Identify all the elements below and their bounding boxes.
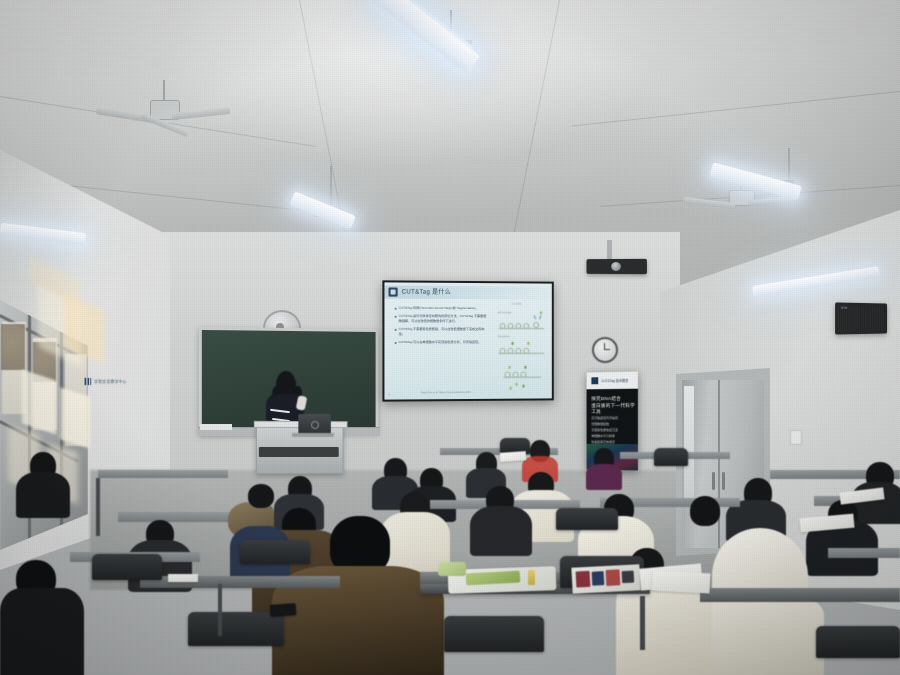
laptop-logo-icon — [311, 421, 319, 429]
banner-point: 高灵敏度低背景噪音 — [591, 416, 618, 420]
student-head — [690, 496, 720, 526]
chair — [816, 626, 900, 658]
banner-logo-text: CUT&Tag 技术服务 — [601, 377, 628, 382]
bullet-text: CUT&Tag 不需要染色质断裂，可以在较低细胞量下完成文库构建。 — [399, 327, 487, 336]
student-body — [470, 506, 532, 556]
student-white-body — [700, 596, 824, 675]
banner-logo-icon — [591, 377, 598, 384]
sunlight-patch — [22, 369, 56, 434]
list-item: CUT&Tag 是针对抗体定向靶向的原位方法，CUT&Tag 不需要细胞裂解，可… — [395, 314, 487, 323]
classroom-photo: 学院实验教学中心 BMB CUT&Tag 是什么 CUT&Tag 利用Chrom… — [0, 0, 900, 675]
lectern-panel — [259, 447, 339, 457]
list-item: CUT&Tag 不需要染色质断裂，可以在较低细胞量下完成文库构建。 — [395, 327, 487, 336]
presentation-slide: CUT&Tag 是什么 CUT&Tag 利用Chromatin-bound Ta… — [384, 282, 551, 399]
wall-clock — [592, 337, 618, 363]
door-split — [718, 380, 720, 548]
bullet-text: CUT&Tag 利用Chromatin-bound Target的 Tagmen… — [399, 306, 479, 311]
bullet-dot — [395, 316, 397, 318]
desk — [828, 548, 900, 558]
chair — [444, 616, 544, 652]
door-handle[interactable] — [712, 472, 715, 490]
bullet-dot — [395, 342, 397, 344]
door-handle[interactable] — [722, 472, 725, 490]
bullet-dot — [395, 308, 397, 310]
wall-sign-shadow — [91, 382, 146, 392]
phone[interactable] — [270, 603, 297, 617]
slide-title: CUT&Tag 是什么 — [402, 287, 451, 296]
list-item: CUT&Tag 利用Chromatin-bound Target的 Tagmen… — [395, 306, 487, 311]
chair — [654, 448, 688, 466]
door-glass — [684, 386, 694, 506]
bullet-text: CUT&Tag 是针对抗体定向靶向的原位方法，CUT&Tag 不需要细胞裂解，可… — [399, 314, 487, 323]
banner-headline-1: 探究DNA结合 — [591, 396, 621, 402]
chalk-tray-left — [200, 424, 232, 430]
ceiling-projector — [586, 259, 646, 274]
magazine[interactable] — [571, 564, 640, 594]
banner-point: 单细胞水平分辨率 — [591, 434, 615, 438]
laptop-base — [292, 433, 334, 437]
papers[interactable] — [168, 574, 198, 582]
green-item[interactable] — [438, 562, 466, 576]
desk — [98, 470, 228, 478]
slide-page-number: 5 — [389, 394, 390, 397]
student-body — [586, 464, 622, 490]
bullet-text: CUT&Tag 可以在单细胞水平实现染色质分析，背景噪音低。 — [399, 340, 482, 345]
list-item: CUT&Tag 可以在单细胞水平实现染色质分析，背景噪音低。 — [395, 340, 487, 345]
presentation-logo-icon — [389, 287, 398, 296]
banner-header: CUT&Tag 技术服务 — [587, 372, 638, 390]
projector-mount — [607, 240, 612, 260]
sunlight-patch — [60, 387, 90, 448]
chair — [92, 554, 162, 580]
student-body — [0, 588, 84, 675]
slide-diagram: CUT&Tag pA-Tn5 binding Tagmentation — [496, 303, 549, 393]
student-head — [248, 484, 274, 508]
student-body — [16, 472, 70, 518]
light-switch[interactable] — [790, 430, 802, 445]
projection-screen: CUT&Tag 是什么 CUT&Tag 利用Chromatin-bound Ta… — [382, 280, 553, 401]
chair — [556, 508, 618, 530]
banner-headline-2: 蛋白质的下一代科学工具 — [591, 403, 638, 415]
banner-point: 无需染色质免疫沉淀 — [591, 428, 618, 432]
diagram-label-bottom: Tagmentation — [498, 336, 510, 338]
desk — [700, 588, 900, 602]
bottle[interactable] — [528, 570, 535, 585]
wall-speaker: BMB — [835, 302, 887, 334]
slide-bullet-list: CUT&Tag 利用Chromatin-bound Target的 Tagmen… — [395, 306, 487, 349]
chair — [240, 540, 310, 564]
banner-point: 低细胞量起始 — [591, 422, 609, 426]
speaker-brand: BMB — [841, 306, 847, 310]
papers[interactable] — [500, 451, 527, 462]
bullet-dot — [395, 329, 397, 331]
slide-footer: Kaya-Okur et al. Nature Communications 2… — [421, 391, 471, 394]
diagram-label-top: CUT&Tag — [512, 303, 522, 305]
chair — [188, 612, 284, 646]
papers[interactable] — [652, 570, 711, 593]
laptop[interactable] — [298, 414, 331, 434]
diagram-label-mid: pA-Tn5 binding — [498, 312, 511, 314]
projector-lens — [611, 262, 621, 271]
